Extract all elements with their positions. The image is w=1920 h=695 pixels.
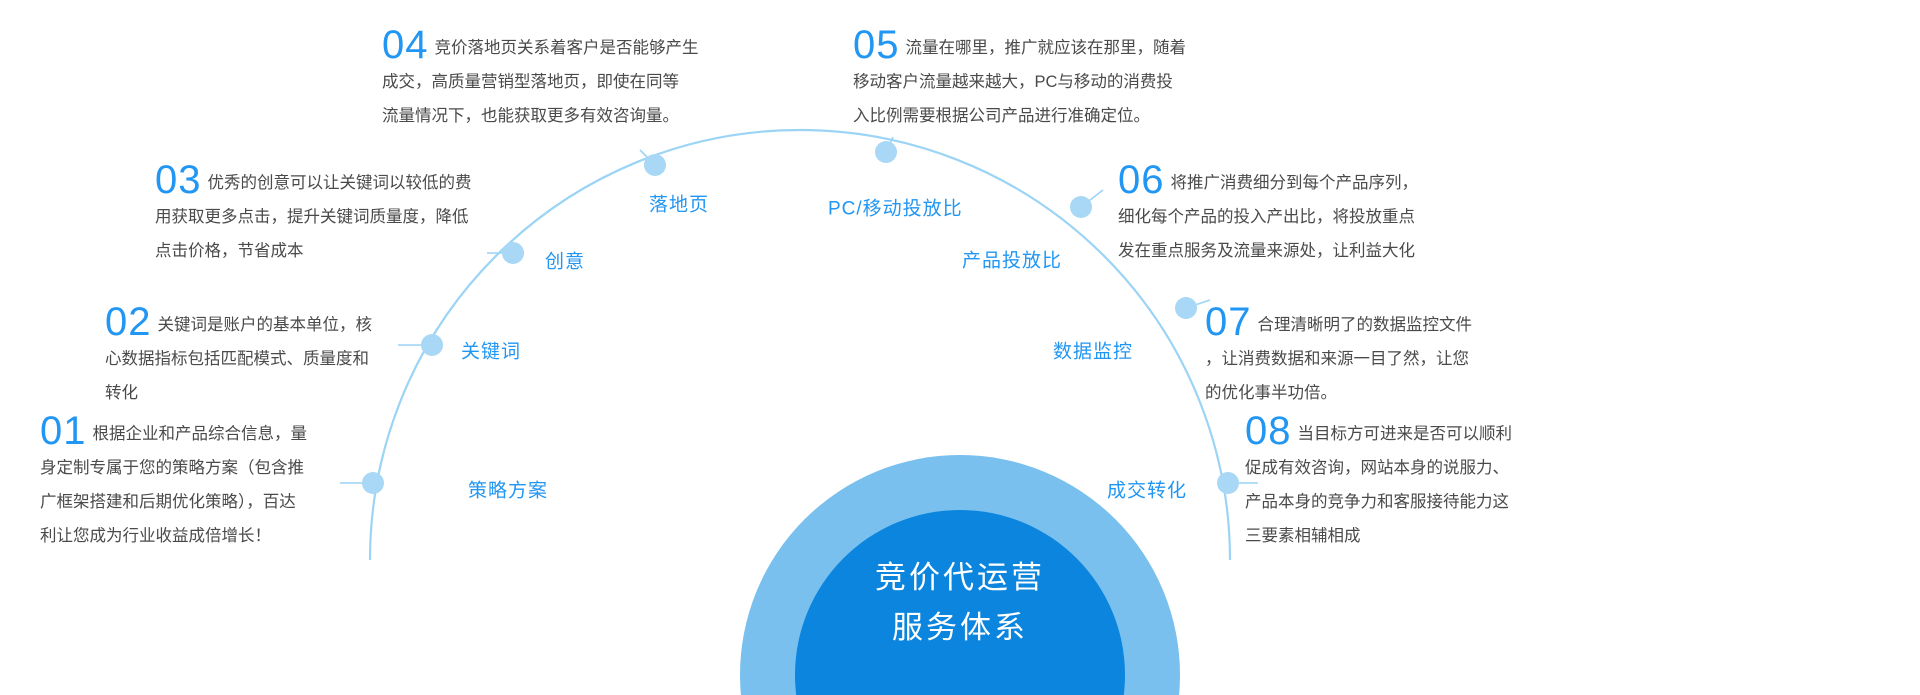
item-05-line-2: 移动客户流量越来越大，PC与移动的消费投 [853, 73, 1173, 91]
node-label-monitoring[interactable]: 数据监控 [1053, 337, 1133, 364]
item-03-line-3: 点击价格，节省成本 [155, 242, 304, 260]
node-label-strategy[interactable]: 策略方案 [468, 476, 548, 503]
item-05-line-1: 流量在哪里，推广就应该在那里，随着 [906, 39, 1187, 57]
item-03: 03优秀的创意可以让关键词以较低的费 用获取更多点击，提升关键词质量度，降低 点… [155, 163, 515, 268]
item-07-line-3: 的优化事半功倍。 [1205, 384, 1337, 402]
node-label-product[interactable]: 产品投放比 [962, 246, 1062, 273]
item-07-line-2: ，让消费数据和来源一目了然，让您 [1205, 350, 1469, 368]
item-08-line-4: 三要素相辅相成 [1245, 527, 1361, 545]
item-02-line-2: 心数据指标包括匹配模式、质量度和 [105, 350, 369, 368]
item-02-line-3: 转化 [105, 384, 138, 402]
item-06: 06将推广消费细分到每个产品序列， 细化每个产品的投入产出比，将投放重点 发在重… [1118, 163, 1488, 268]
item-08-line-2: 促成有效咨询，网站本身的说服力、 [1245, 459, 1509, 477]
center-title-line-1: 竞价代运营 [750, 553, 1170, 603]
node-dot-4 [644, 154, 666, 176]
item-08: 08当目标方可进来是否可以顺利 促成有效咨询，网站本身的说服力、 产品本身的竞争… [1245, 414, 1575, 553]
node-dot-7 [1175, 297, 1197, 319]
item-03-number: 03 [155, 158, 202, 202]
item-04-line-3: 流量情况下，也能获取更多有效咨询量。 [382, 107, 679, 125]
item-05-number: 05 [853, 23, 900, 67]
item-04-line-1: 竞价落地页关系着客户是否能够产生 [435, 39, 699, 57]
node-dot-2 [421, 334, 443, 356]
item-06-line-3: 发在重点服务及流量来源处，让利益大化 [1118, 242, 1415, 260]
item-07-number: 07 [1205, 300, 1252, 344]
item-08-line-1: 当目标方可进来是否可以顺利 [1298, 425, 1513, 443]
item-04: 04竞价落地页关系着客户是否能够产生 成交，高质量营销型落地页，即使在同等 流量… [382, 28, 742, 133]
node-label-pc-mobile[interactable]: PC/移动投放比 [828, 194, 963, 221]
node-label-landing[interactable]: 落地页 [649, 190, 709, 217]
item-06-line-1: 将推广消费细分到每个产品序列， [1171, 174, 1419, 192]
item-01-line-2: 身定制专属于您的策略方案（包含推 [40, 459, 304, 477]
item-01-number: 01 [40, 409, 87, 453]
item-08-number: 08 [1245, 409, 1292, 453]
item-06-line-2: 细化每个产品的投入产出比，将投放重点 [1118, 208, 1415, 226]
item-08-line-3: 产品本身的竞争力和客服接待能力这 [1245, 493, 1509, 511]
item-04-line-2: 成交，高质量营销型落地页，即使在同等 [382, 73, 679, 91]
infographic-canvas: 竞价代运营 服务体系 策略方案 关键词 [0, 0, 1920, 695]
item-02-number: 02 [105, 300, 152, 344]
node-dot-1 [362, 472, 384, 494]
node-label-creative[interactable]: 创意 [545, 247, 585, 274]
item-05-line-3: 入比例需要根据公司产品进行准确定位。 [853, 107, 1150, 125]
node-dot-6 [1070, 196, 1092, 218]
node-label-conversion[interactable]: 成交转化 [1107, 476, 1187, 503]
item-07: 07合理清晰明了的数据监控文件 ，让消费数据和来源一目了然，让您 的优化事半功倍… [1205, 305, 1525, 410]
center-title-line-2: 服务体系 [750, 603, 1170, 653]
item-02-line-1: 关键词是账户的基本单位，核 [158, 316, 373, 334]
item-02: 02关键词是账户的基本单位，核 心数据指标包括匹配模式、质量度和 转化 [105, 305, 405, 410]
leader-line-4 [640, 150, 655, 165]
item-01-line-1: 根据企业和产品综合信息，量 [93, 425, 308, 443]
item-06-number: 06 [1118, 158, 1165, 202]
item-03-line-1: 优秀的创意可以让关键词以较低的费 [208, 174, 472, 192]
item-01: 01根据企业和产品综合信息，量 身定制专属于您的策略方案（包含推 广框架搭建和后… [40, 414, 350, 553]
node-label-keyword[interactable]: 关键词 [461, 337, 521, 364]
center-title: 竞价代运营 服务体系 [750, 553, 1170, 653]
item-04-number: 04 [382, 23, 429, 67]
leader-line-5 [886, 137, 893, 152]
item-01-line-3: 广框架搭建和后期优化策略），百达 [40, 493, 296, 511]
leader-line-6 [1081, 190, 1103, 207]
node-dot-5 [875, 141, 897, 163]
item-03-line-2: 用获取更多点击，提升关键词质量度，降低 [155, 208, 469, 226]
node-dot-8 [1217, 472, 1239, 494]
item-05: 05流量在哪里，推广就应该在那里，随着 移动客户流量越来越大，PC与移动的消费投… [853, 28, 1223, 133]
item-07-line-1: 合理清晰明了的数据监控文件 [1258, 316, 1473, 334]
item-01-line-4: 利让您成为行业收益成倍增长！ [40, 527, 271, 545]
